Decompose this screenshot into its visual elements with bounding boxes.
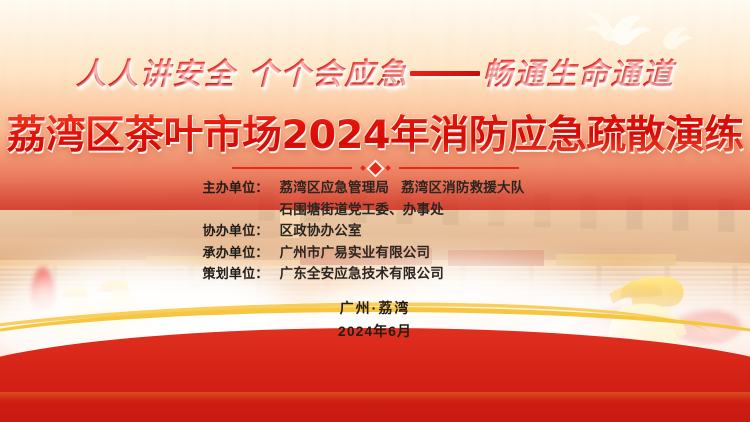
city-and-date-block: 广州·荔湾 2024年6月 <box>0 298 750 342</box>
divider-bar-right <box>399 167 519 169</box>
divider-bar-left <box>232 167 352 169</box>
poster-content: 人人讲安全 个个会应急畅通生命通道 荔湾区茶叶市场2024年消防应急疏散演练 主… <box>0 0 750 422</box>
organizer-value-coorganizer: 区政协办公室 <box>280 220 362 242</box>
diamond-ornament-icon <box>361 162 390 175</box>
organizer-row-undertaker: 承办单位： 广州市广易实业有限公司 <box>203 242 548 264</box>
organizer-value-host: 荔湾区应急管理局荔湾区消防救援大队 <box>280 177 525 199</box>
poster-slogan: 人人讲安全 个个会应急畅通生命通道 <box>0 49 750 93</box>
date-label: 2024年6月 <box>0 320 750 342</box>
organizer-list: 主办单位： 荔湾区应急管理局荔湾区消防救援大队 石围塘街道党工委、办事处 协办单… <box>0 177 750 285</box>
poster-main-title: 荔湾区茶叶市场2024年消防应急疏散演练 <box>0 104 750 160</box>
ornamental-divider <box>0 160 750 176</box>
organizer-row-host: 主办单位： 荔湾区应急管理局荔湾区消防救援大队 <box>203 177 548 199</box>
organizer-value-host-continuation: 石围塘街道党工委、办事处 <box>203 199 444 221</box>
slogan-part-2: 畅通生命通道 <box>482 57 674 92</box>
organizer-label-coorganizer: 协办单位： <box>203 220 280 242</box>
divider-dot-right <box>385 165 391 171</box>
organizer-value-host-a: 荔湾区应急管理局 <box>280 180 390 195</box>
divider-dot-left <box>360 165 366 171</box>
city-label: 广州·荔湾 <box>0 298 750 318</box>
organizer-label-planner: 策划单位： <box>203 263 280 285</box>
slogan-dash <box>410 71 480 76</box>
organizer-label-undertaker: 承办单位： <box>203 242 280 264</box>
slogan-part-1: 人人讲安全 个个会应急 <box>76 57 408 92</box>
fire-drill-poster: 人人讲安全 个个会应急畅通生命通道 荔湾区茶叶市场2024年消防应急疏散演练 主… <box>0 0 750 422</box>
divider-diamond <box>366 159 384 177</box>
organizer-value-host-b: 荔湾区消防救援大队 <box>401 180 524 195</box>
organizer-row-host-continued: 石围塘街道党工委、办事处 <box>203 199 548 221</box>
organizer-label-host: 主办单位： <box>203 177 280 199</box>
organizer-row-coorganizer: 协办单位： 区政协办公室 <box>203 220 548 242</box>
organizer-value-undertaker: 广州市广易实业有限公司 <box>280 242 431 264</box>
organizer-value-planner: 广东全安应急技术有限公司 <box>280 263 444 285</box>
organizer-row-planner: 策划单位： 广东全安应急技术有限公司 <box>203 263 548 285</box>
